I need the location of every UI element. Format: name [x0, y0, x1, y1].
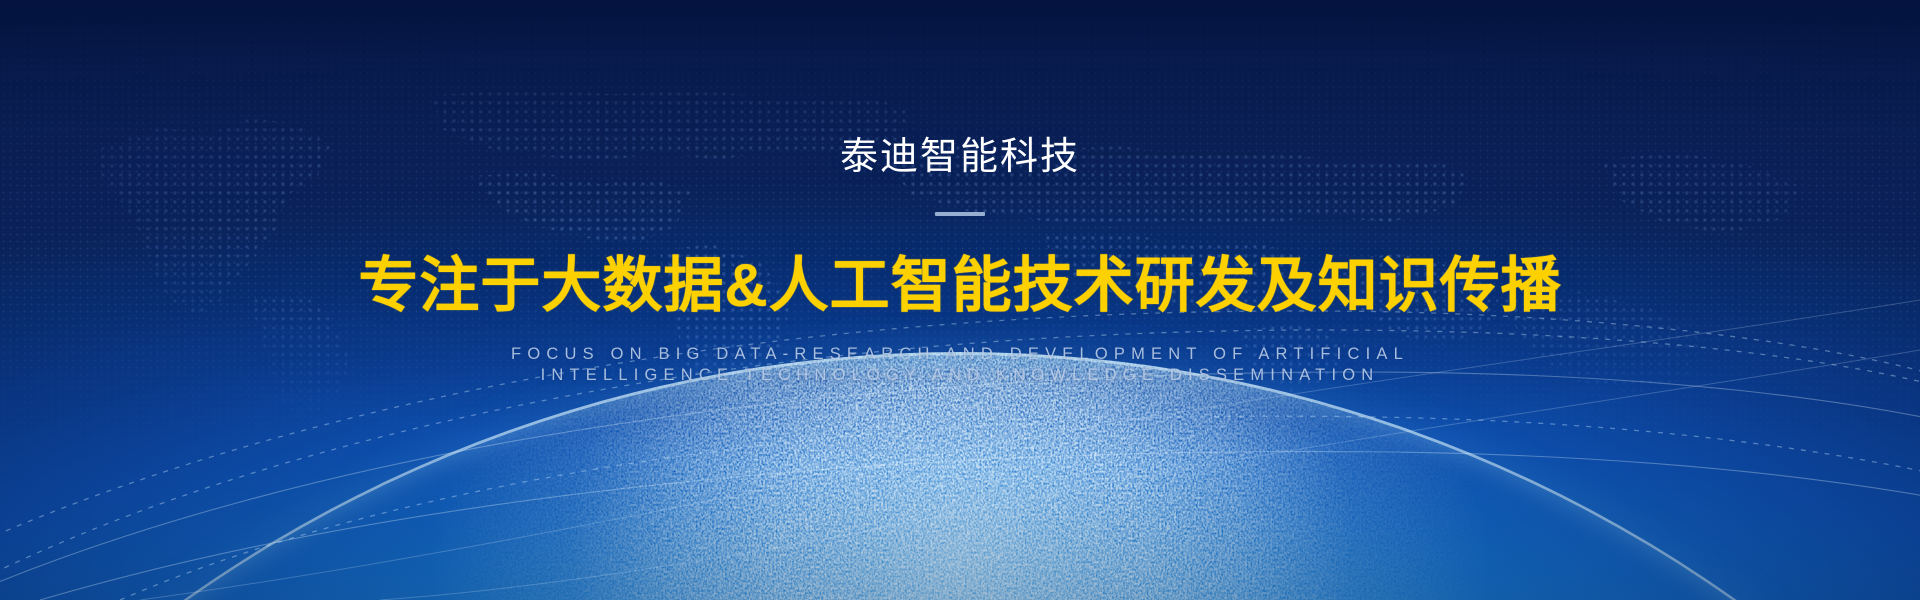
hero-banner: 泰迪智能科技 专注于大数据&人工智能技术研发及知识传播 FOCUS ON BIG…: [0, 0, 1920, 600]
subtitle-line-1: FOCUS ON BIG DATA-RESEARCH AND DEVELOPME…: [511, 344, 1409, 365]
subtitle-block: FOCUS ON BIG DATA-RESEARCH AND DEVELOPME…: [511, 344, 1409, 386]
banner-content: 泰迪智能科技 专注于大数据&人工智能技术研发及知识传播 FOCUS ON BIG…: [0, 0, 1920, 600]
title-divider: [935, 212, 985, 216]
page-title: 泰迪智能科技: [840, 138, 1080, 176]
subtitle-line-2: INTELLIGENCE TECHNOLOGY AND KNOWLEDGE DI…: [511, 365, 1409, 386]
headline-text: 专注于大数据&人工智能技术研发及知识传播: [358, 254, 1561, 318]
